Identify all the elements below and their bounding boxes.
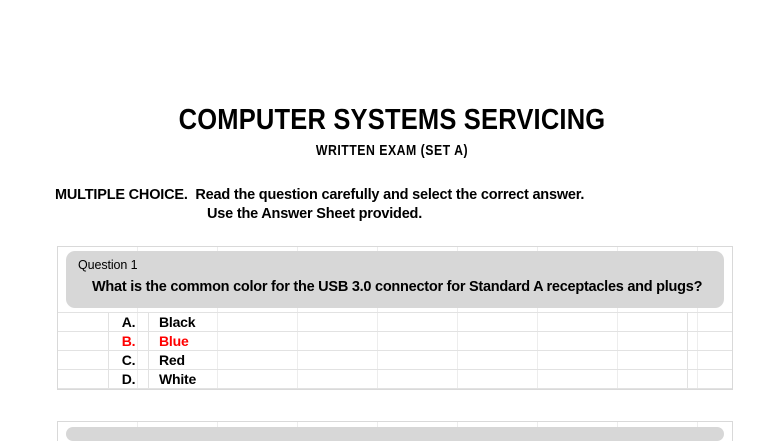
question-number-label: Question 1: [78, 258, 712, 273]
row-gutter-cell: [58, 370, 109, 389]
page-title: COMPUTER SYSTEMS SERVICING: [47, 104, 737, 136]
row-tail-cell: [688, 332, 733, 351]
answer-options-table: A. Black B. Blue C. Red D. White: [58, 312, 732, 389]
question-banner: Question 1 What is the common color for …: [66, 251, 724, 308]
next-question-block: [57, 421, 733, 441]
page-subtitle: WRITTEN EXAM (SET A): [71, 142, 714, 160]
row-tail-cell: [688, 370, 733, 389]
document-header: COMPUTER SYSTEMS SERVICING WRITTEN EXAM …: [0, 0, 784, 160]
option-letter[interactable]: A.: [109, 313, 149, 332]
table-row[interactable]: B. Blue: [58, 332, 732, 351]
option-text[interactable]: Red: [149, 351, 688, 370]
table-row[interactable]: A. Black: [58, 313, 732, 332]
table-row[interactable]: D. White: [58, 370, 732, 389]
option-letter[interactable]: C.: [109, 351, 149, 370]
option-text[interactable]: White: [149, 370, 688, 389]
question-text: What is the common color for the USB 3.0…: [92, 278, 712, 296]
row-tail-cell: [688, 351, 733, 370]
question-banner: [66, 427, 724, 441]
instructions-line-1: MULTIPLE CHOICE. Read the question caref…: [55, 186, 784, 205]
option-text[interactable]: Black: [149, 313, 688, 332]
instructions-text-secondary: Use the Answer Sheet provided.: [207, 206, 422, 222]
row-tail-cell: [688, 313, 733, 332]
instructions-line-2: Use the Answer Sheet provided.: [55, 205, 784, 224]
question-block: Question 1 What is the common color for …: [57, 246, 733, 390]
table-row[interactable]: C. Red: [58, 351, 732, 370]
instructions-label: MULTIPLE CHOICE.: [55, 187, 188, 203]
row-gutter-cell: [58, 313, 109, 332]
option-letter[interactable]: B.: [109, 332, 149, 351]
instructions-block: MULTIPLE CHOICE. Read the question caref…: [0, 186, 784, 224]
option-text[interactable]: Blue: [149, 332, 688, 351]
instructions-text-primary: Read the question carefully and select t…: [195, 187, 584, 203]
option-letter[interactable]: D.: [109, 370, 149, 389]
row-gutter-cell: [58, 332, 109, 351]
row-gutter-cell: [58, 351, 109, 370]
